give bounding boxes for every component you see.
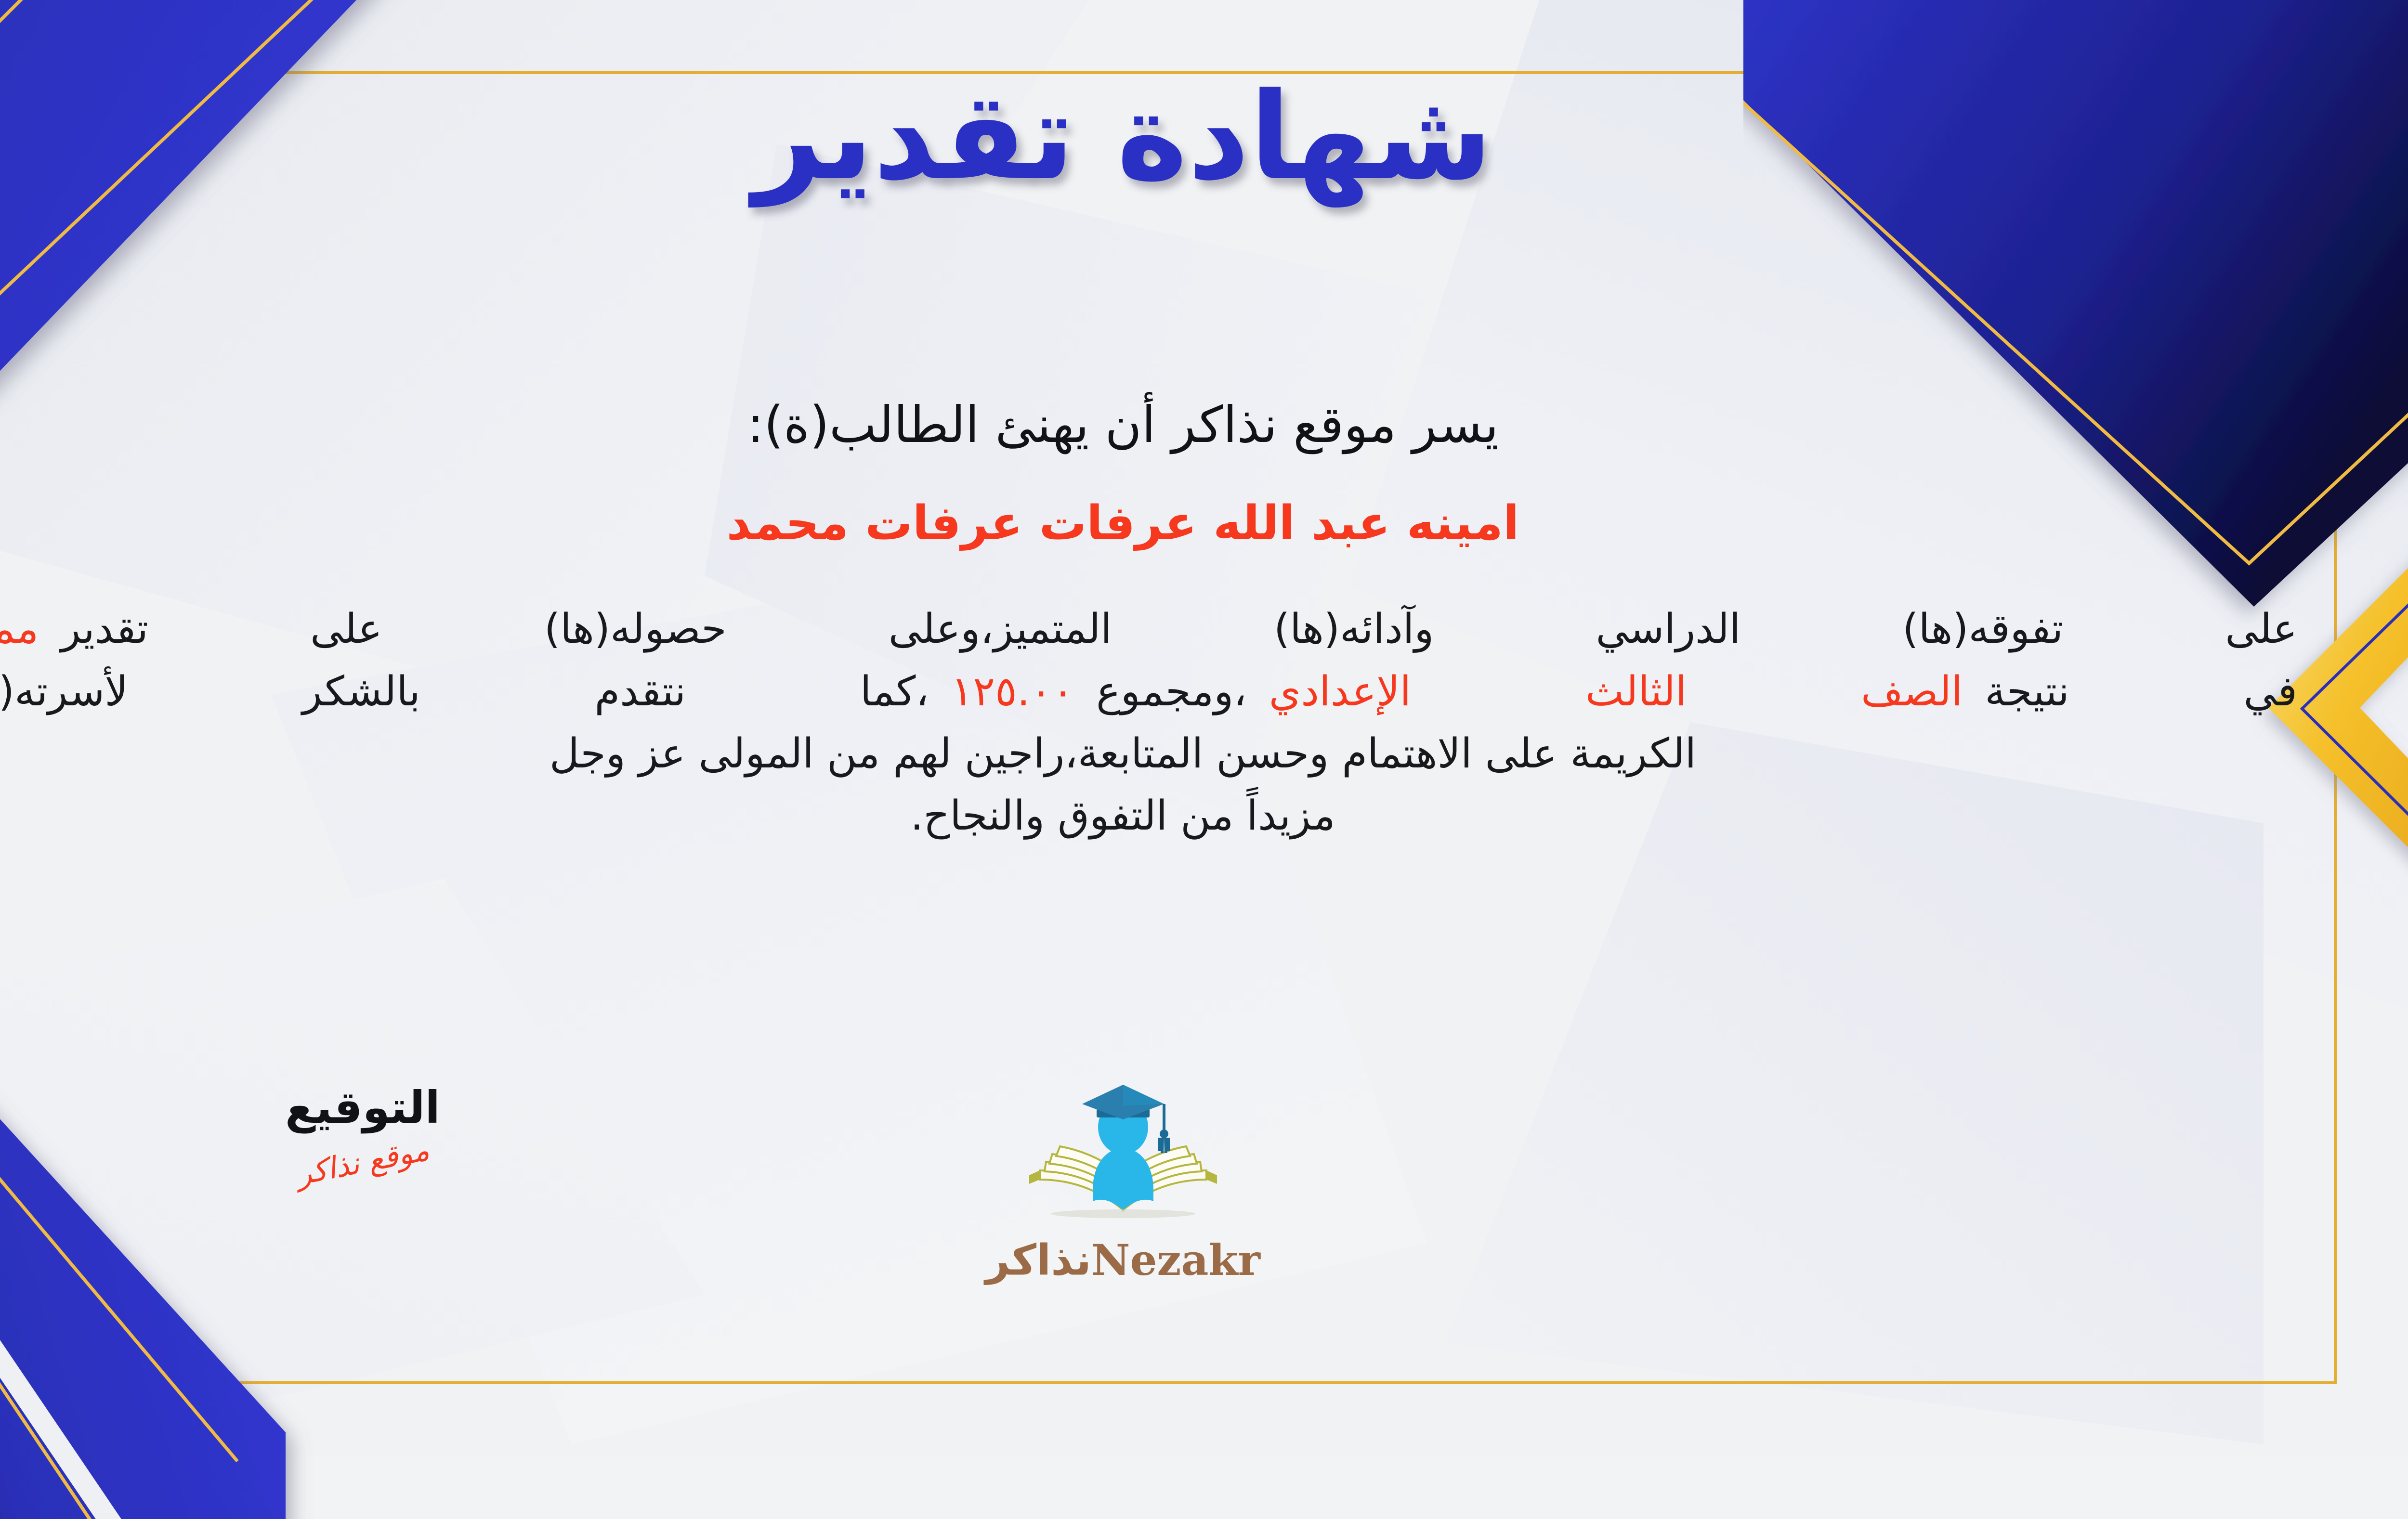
signature-value: موقع نذاكر — [293, 1132, 432, 1192]
achievement-paragraph: على تفوقه(ها) الدراسي وآدائه(ها) المتميز… — [0, 598, 2297, 847]
certificate-title-block: شهادة تقدير — [0, 67, 2408, 206]
logo-name-en: Nezakr — [1091, 1235, 1260, 1285]
total-score-value: ١٢٥.٠٠ — [951, 668, 1074, 715]
certificate-footer: التوقيع موقع نذاكر — [0, 1086, 2408, 1355]
body-line-1: على تفوقه(ها) الدراسي وآدائه(ها) المتميز… — [0, 598, 2297, 660]
student-name: امينه عبد الله عرفات عرفات محمد — [0, 495, 2297, 552]
body-line-1-text: على تفوقه(ها) الدراسي وآدائه(ها) المتميز… — [61, 605, 2297, 653]
body-line-4: مزيداً من التفوق والنجاح. — [0, 785, 2297, 847]
logo-name-ar: نذاكر — [985, 1235, 1091, 1285]
signature-label: التوقيع — [209, 1086, 517, 1130]
body-line-2: في نتيجةالصف الثالث الإعدادي،ومجموع١٢٥.٠… — [0, 661, 2297, 723]
stage-value: الصف الثالث الإعدادي — [1269, 668, 1963, 715]
certificate-body: يسر موقع نذاكر أن يهنئ الطالب(ة): امينه … — [0, 395, 2297, 847]
signature-block: التوقيع موقع نذاكر — [209, 1086, 517, 1180]
site-logo: Nezakrنذاكر — [940, 1081, 1306, 1285]
body-line-2-middle: ،ومجموع — [1096, 668, 1247, 715]
body-line-2-prefix: في نتيجة — [1985, 668, 2297, 715]
body-line-2-suffix: ،كما نتقدم بالشكر لأسرته(ها) — [0, 668, 929, 715]
certificate-title: شهادة تقدير — [0, 67, 2408, 206]
signature-mark: موقع نذاكر — [209, 1144, 517, 1180]
intro-line: يسر موقع نذاكر أن يهنئ الطالب(ة): — [0, 395, 2297, 455]
body-line-3: الكريمة على الاهتمام وحسن المتابعة،راجين… — [0, 723, 2297, 785]
logo-wordmark: Nezakrنذاكر — [940, 1235, 1306, 1285]
graduate-book-logo-icon — [1020, 1081, 1227, 1230]
grade-value: ممتاز — [0, 605, 39, 653]
